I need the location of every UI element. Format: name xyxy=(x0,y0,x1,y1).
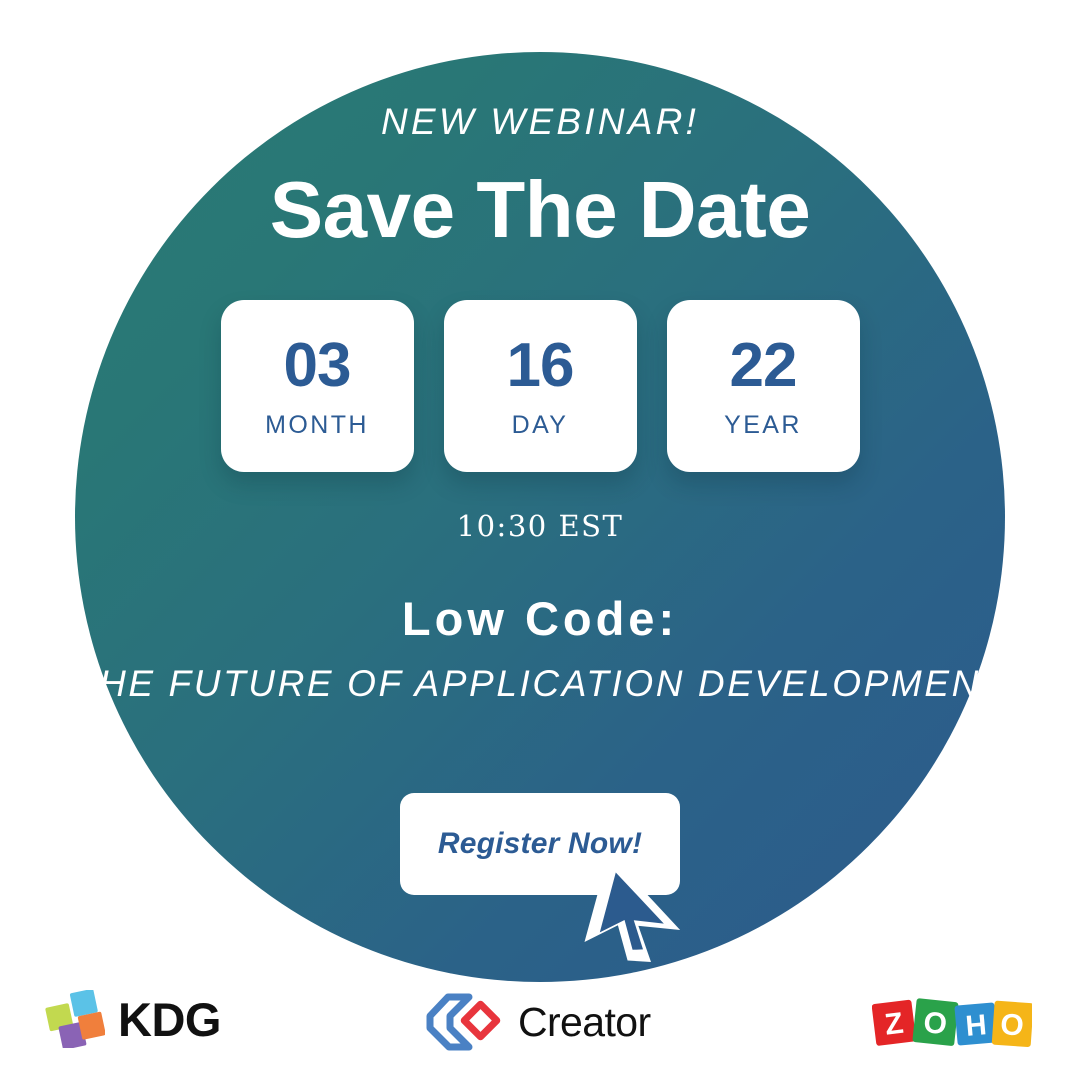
logo-bar: KDG Creator Z O H O xyxy=(0,986,1080,1080)
page-title: Save The Date xyxy=(0,168,1080,252)
zoho-blocks-icon: Z O H O xyxy=(872,992,1032,1054)
topic-subtitle: THE FUTURE OF APPLICATION DEVELOPMENT xyxy=(0,658,1080,711)
date-card-year-value: 22 xyxy=(730,335,797,397)
date-card-group: 03 MONTH 16 DAY 22 YEAR xyxy=(0,300,1080,472)
svg-text:O: O xyxy=(922,1006,949,1041)
svg-text:O: O xyxy=(999,1008,1025,1043)
logo-kdg-wordmark: KDG xyxy=(118,996,221,1043)
svg-text:H: H xyxy=(964,1009,988,1043)
creator-bracket-icon xyxy=(425,992,503,1052)
date-card-year: 22 YEAR xyxy=(667,300,860,472)
logo-zoho-creator: Creator xyxy=(425,992,651,1052)
date-card-day: 16 DAY xyxy=(444,300,637,472)
register-now-button[interactable]: Register Now! xyxy=(400,793,680,895)
eyebrow-label: NEW WEBINAR! xyxy=(0,103,1080,140)
date-card-month: 03 MONTH xyxy=(221,300,414,472)
four-squares-icon xyxy=(45,990,105,1048)
logo-zoho: Z O H O xyxy=(872,992,1032,1054)
date-card-month-label: MONTH xyxy=(265,413,369,438)
date-card-year-label: YEAR xyxy=(724,413,802,438)
date-card-day-value: 16 xyxy=(507,335,574,397)
event-time: 10:30 EST xyxy=(0,512,1080,541)
logo-creator-wordmark: Creator xyxy=(518,1002,651,1043)
date-card-day-label: DAY xyxy=(512,413,569,438)
logo-kdg: KDG xyxy=(45,990,221,1048)
topic-title: Low Code: xyxy=(0,595,1080,642)
date-card-month-value: 03 xyxy=(284,335,351,397)
